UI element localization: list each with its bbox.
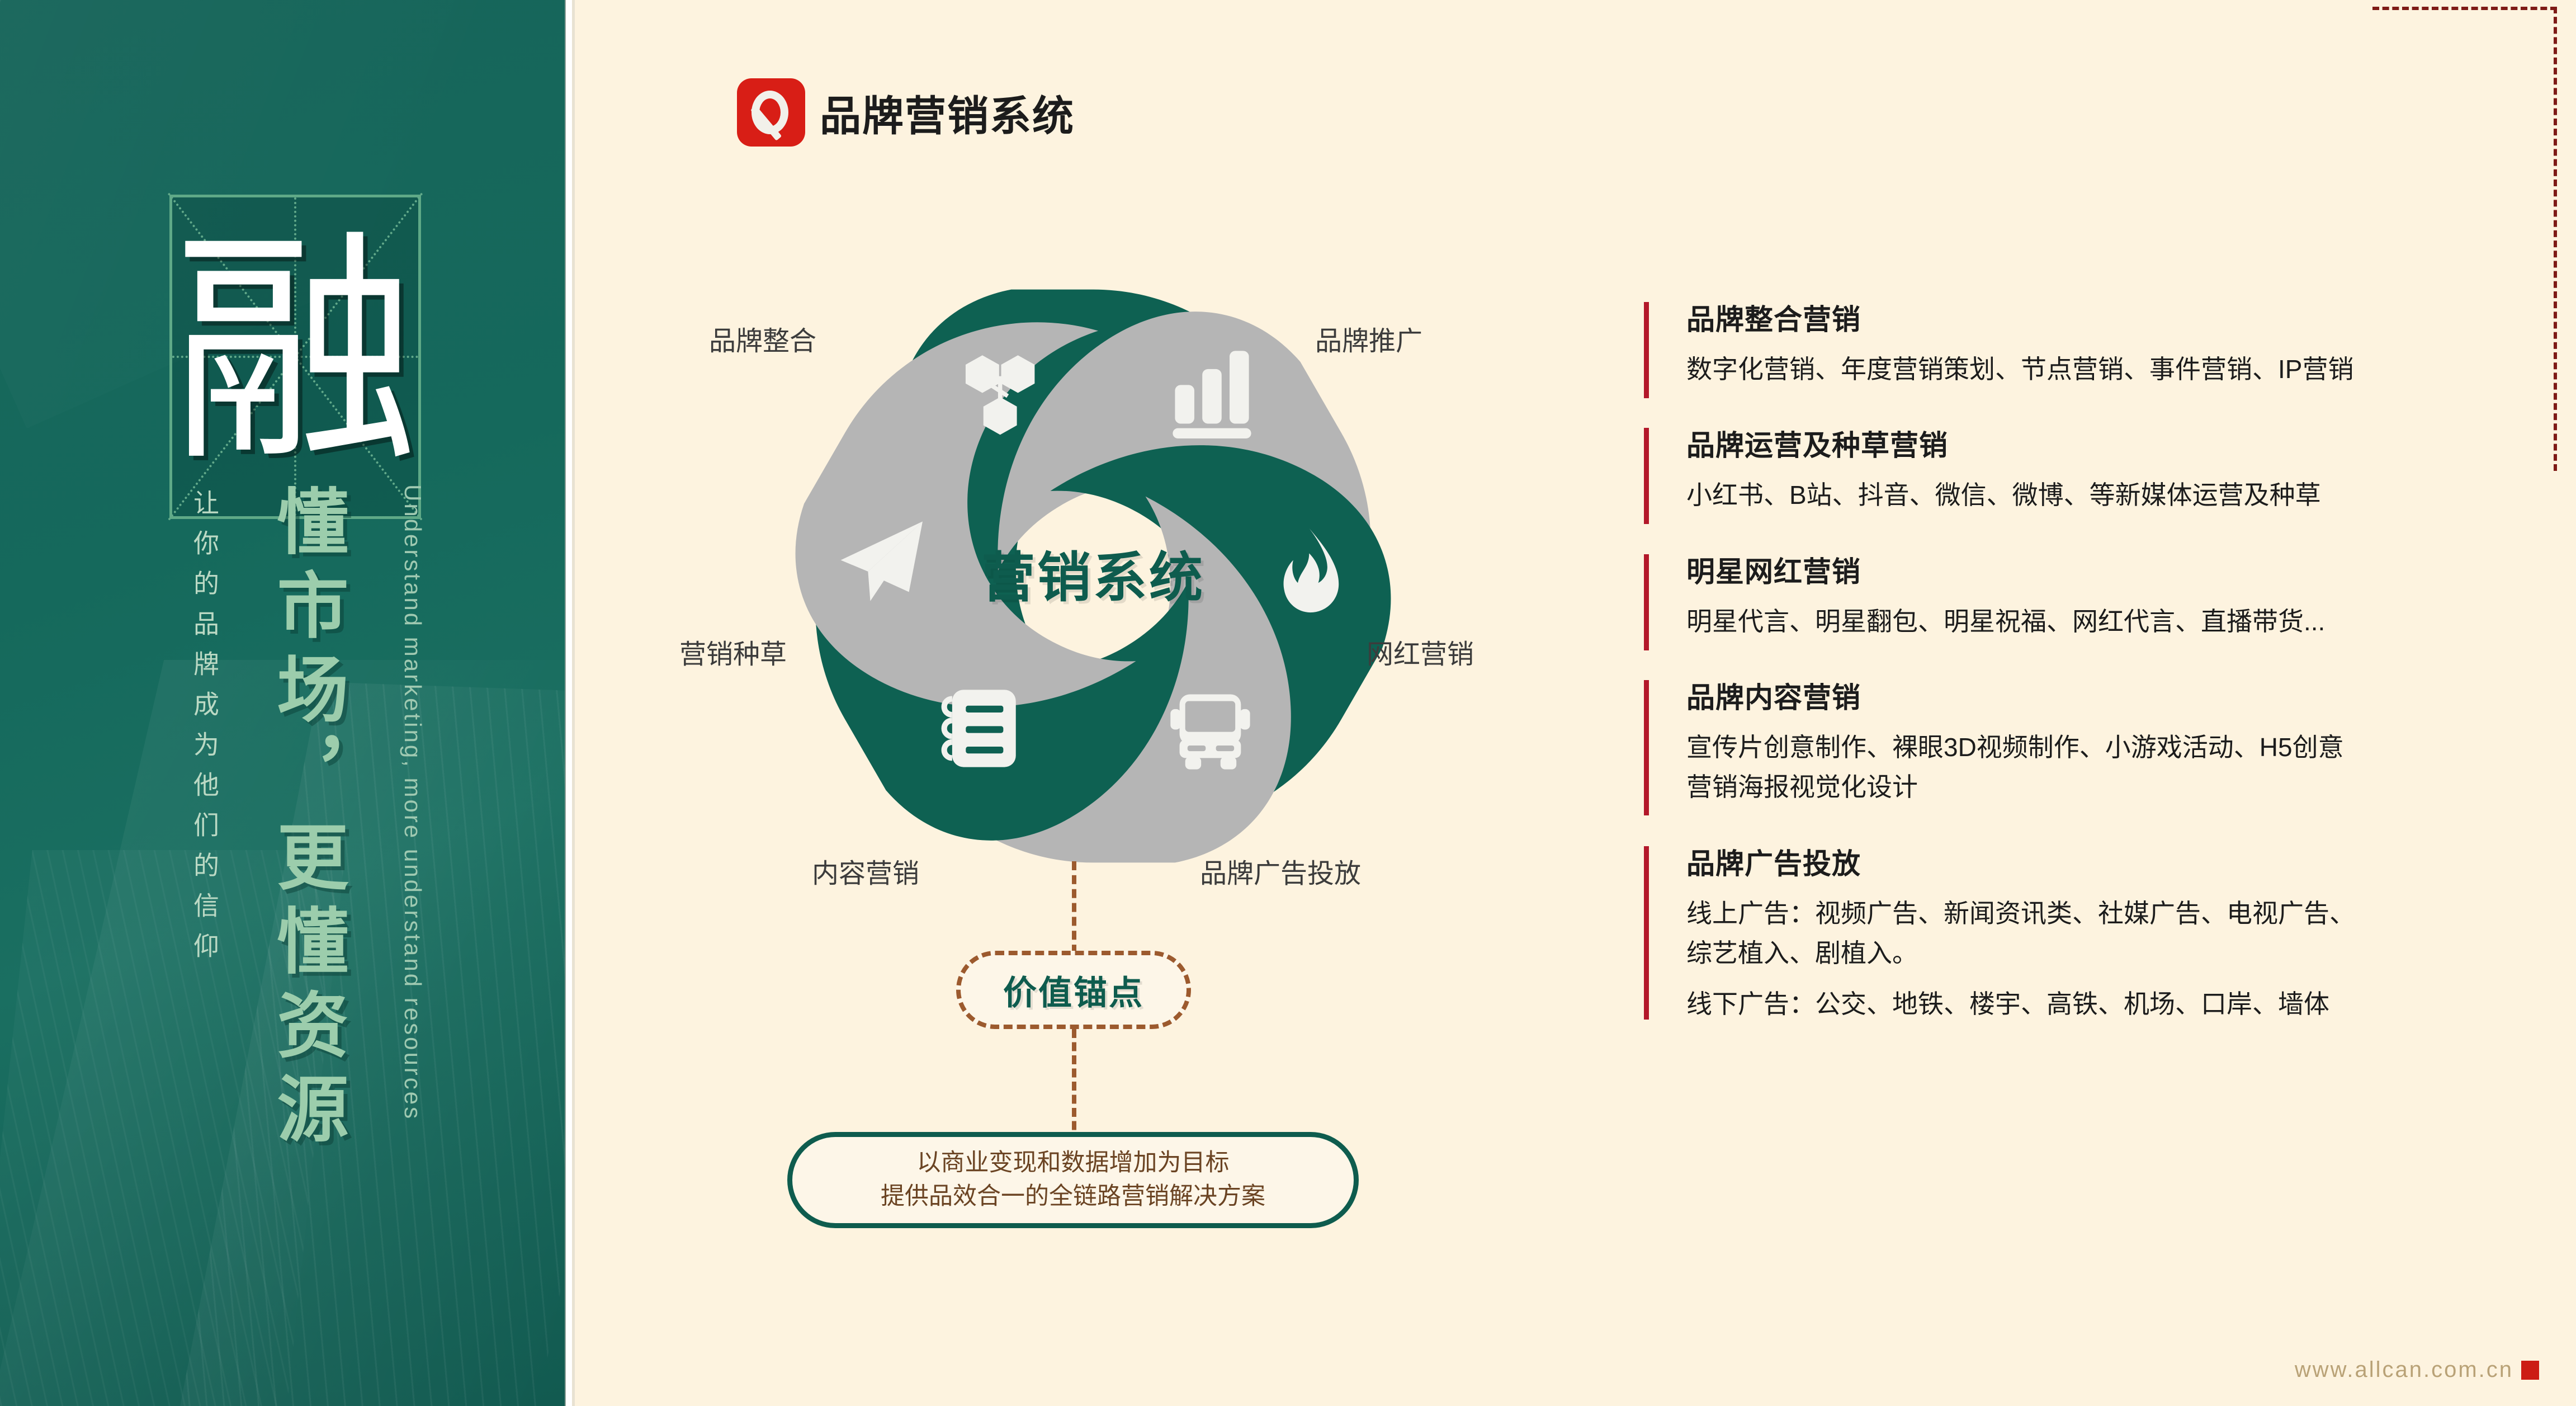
value-anchor-label: 价值锚点: [1003, 966, 1144, 1015]
diagram-node-label-ad-placement: 品牌广告投放: [1200, 851, 1361, 890]
diagram-node-label-brand-promotion: 品牌推广: [1315, 319, 1422, 358]
section-line: 小红书、B站、抖音、微信、微博、等新媒体运营及种草: [1686, 477, 2516, 513]
section-line: 综艺植入、剧植入。: [1686, 935, 2516, 971]
diagram-node-label-influencer: 网红营销: [1367, 632, 1474, 671]
panel-divider: [565, 0, 575, 1406]
section-title: 品牌内容营销: [1686, 674, 2516, 716]
service-section: 品牌内容营销 宣传片创意制作、裸眼3D视频制作、小游戏活动、H5创意 营销海报视…: [1644, 674, 2516, 806]
section-accent-bar: [1644, 846, 1649, 1020]
service-section: 品牌广告投放 线上广告：视频广告、新闻资讯类、社媒广告、电视广告、 综艺植入、剧…: [1644, 841, 2516, 1023]
connector-line-bottom: [1072, 1029, 1076, 1143]
left-hero-panel: 融 让你的品牌成为他们的信仰 懂市场，更懂资源 Understand marke…: [0, 0, 565, 1406]
section-title: 明星网红营销: [1686, 549, 2516, 590]
section-line: 宣传片创意制作、裸眼3D视频制作、小游戏活动、H5创意: [1686, 729, 2516, 766]
statement-callout-box: 以商业变现和数据增加为目标 提供品效合一的全链路营销解决方案: [787, 1132, 1359, 1228]
footer-url: www.allcan.com.cn: [2295, 1357, 2513, 1383]
section-title: 品牌广告投放: [1686, 841, 2516, 882]
statement-line-2: 提供品效合一的全链路营销解决方案: [881, 1182, 1265, 1211]
service-section: 明星网红营销 明星代言、明星翻包、明星祝福、网红代言、直播带货...: [1644, 549, 2516, 640]
service-sections-list: 品牌整合营销 数字化营销、年度营销策划、节点营销、事件营销、IP营销 品牌运营及…: [1644, 296, 2516, 1058]
footer: www.allcan.com.cn: [2295, 1357, 2539, 1383]
section-line: 营销海报视觉化设计: [1686, 769, 2516, 805]
section-accent-bar: [1644, 554, 1649, 650]
section-line: 线上广告：视频广告、新闻资讯类、社媒广告、电视广告、: [1686, 895, 2516, 932]
section-line: 线下广告：公交、地铁、楼宇、高铁、机场、口岸、墙体: [1686, 986, 2516, 1022]
page-title: 品牌营销系统: [820, 83, 1075, 143]
calligraphy-grid-box: 融: [169, 195, 421, 519]
hero-character: 融: [172, 197, 418, 516]
infographic-page: 融 让你的品牌成为他们的信仰 懂市场，更懂资源 Understand marke…: [0, 0, 2576, 1406]
service-section: 品牌运营及种草营销 小红书、B站、抖音、微信、微博、等新媒体运营及种草: [1644, 422, 2516, 513]
diagram-node-label-content-marketing: 内容营销: [812, 851, 919, 890]
value-anchor-pill: 价值锚点: [956, 951, 1191, 1029]
section-accent-bar: [1644, 428, 1649, 524]
section-accent-bar: [1644, 680, 1649, 815]
footer-red-square-icon: [2521, 1361, 2539, 1380]
building-silhouette-b: [174, 682, 565, 1406]
diagram-center-label: 营销系统: [752, 534, 1434, 612]
section-title: 品牌整合营销: [1686, 296, 2516, 338]
diagram-node-label-brand-integration: 品牌整合: [709, 319, 816, 358]
notebook-icon: [944, 690, 1016, 767]
vertical-tagline-english: Understand marketing, more understand re…: [399, 484, 426, 1121]
diagram-node-label-seeding: 营销种草: [679, 632, 787, 671]
statement-line-1: 以商业变现和数据增加为目标: [917, 1149, 1230, 1178]
section-accent-bar: [1644, 302, 1649, 398]
service-section: 品牌整合营销 数字化营销、年度营销策划、节点营销、事件营销、IP营销: [1644, 296, 2516, 388]
brand-header: 品牌营销系统: [737, 78, 1075, 147]
vertical-tagline-small: 让你的品牌成为他们的信仰: [186, 489, 223, 973]
section-line: 数字化营销、年度营销策划、节点营销、事件营销、IP营销: [1686, 351, 2516, 388]
section-title: 品牌运营及种草营销: [1686, 422, 2516, 464]
section-line: 明星代言、明星翻包、明星祝福、网红代言、直播带货...: [1686, 603, 2516, 640]
vertical-tagline-large: 懂市场，更懂资源: [254, 484, 358, 1155]
brand-logo-icon: [737, 78, 805, 147]
